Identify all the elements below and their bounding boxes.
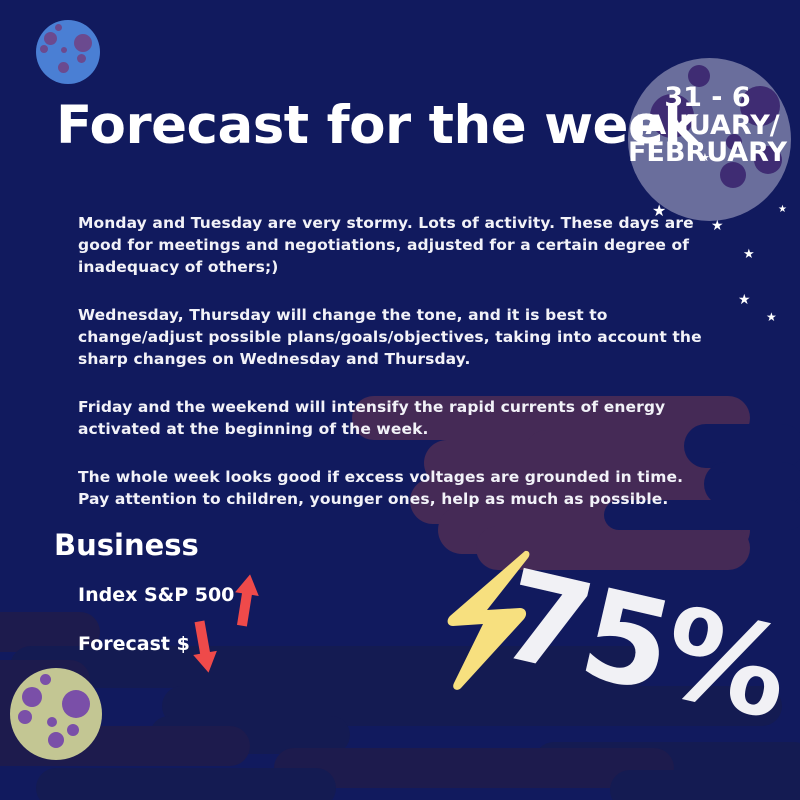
moon-crater [40, 674, 51, 685]
moon-crater [55, 24, 62, 31]
moon-crater [40, 45, 48, 53]
metric-label-index-sp500: Index S&P 500 [78, 584, 234, 606]
forecast-poster: 31 - 6 JANUARY/ FEBRUARY ★ ★ ★ ★ ★ ★ ★ F… [0, 0, 800, 800]
moon-top-left [36, 20, 100, 84]
star-icon: ★ [738, 293, 751, 307]
moon-crater [44, 32, 57, 45]
moon-crater [18, 710, 32, 724]
moon-crater [22, 687, 42, 707]
star-icon: ★ [766, 311, 777, 323]
moon-crater [61, 47, 67, 53]
cloud-shape-navy [36, 768, 336, 800]
forecast-body: Monday and Tuesday are very stormy. Lots… [78, 212, 716, 510]
moon-bottom-left [10, 668, 102, 760]
moon-crater [58, 62, 69, 73]
moon-crater [77, 54, 86, 63]
forecast-paragraph: Monday and Tuesday are very stormy. Lots… [78, 212, 716, 278]
business-heading: Business [54, 528, 199, 562]
moon-crater [48, 732, 64, 748]
arrow-up-icon [227, 570, 265, 630]
moon-crater [74, 34, 92, 52]
metric-label-forecast-dollar: Forecast $ [78, 633, 190, 655]
moon-crater [67, 724, 79, 736]
forecast-paragraph: Friday and the weekend will intensify th… [78, 396, 716, 440]
star-icon: ★ [778, 205, 787, 215]
moon-crater [62, 690, 90, 718]
cloud-shape-navy [610, 770, 800, 800]
forecast-paragraph: Wednesday, Thursday will change the tone… [78, 304, 716, 370]
moon-crater [47, 717, 57, 727]
star-icon: ★ [700, 152, 710, 163]
page-title: Forecast for the week [56, 95, 698, 156]
forecast-paragraph: The whole week looks good if excess volt… [78, 466, 716, 510]
star-icon: ★ [743, 248, 755, 261]
